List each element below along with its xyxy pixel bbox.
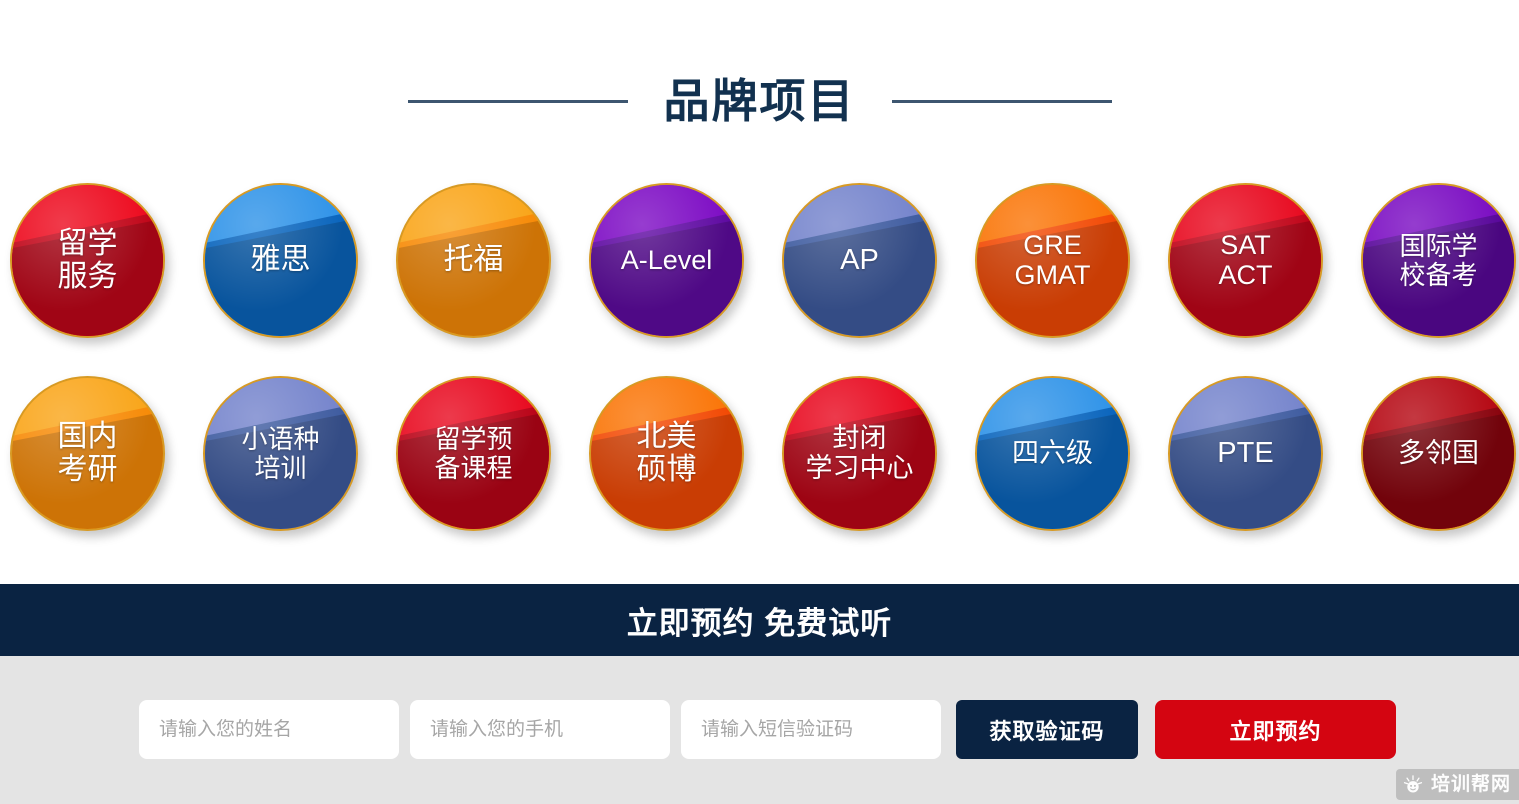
sun-face-icon xyxy=(1402,774,1424,796)
brand-programs-page: 品牌项目 留学服务雅思托福A-LevelAPGREGMATSATACT国际学校备… xyxy=(0,0,1519,804)
program-bubble-label: 托福 xyxy=(444,244,504,276)
booking-form-strip: 获取验证码 立即预约 培训帮网 xyxy=(0,656,1519,804)
page-title: 品牌项目 xyxy=(664,78,856,124)
program-bubble-label: 北美硕博 xyxy=(637,421,697,486)
label-line: 服务 xyxy=(58,261,118,293)
label-line: 封闭 xyxy=(806,424,914,453)
cta-banner: 立即预约 免费试听 xyxy=(0,584,1519,656)
section-heading: 品牌项目 xyxy=(0,62,1519,140)
program-row-1: 留学服务雅思托福A-LevelAPGREGMATSATACT国际学校备考 xyxy=(10,183,1510,338)
program-bubble[interactable]: 封闭学习中心 xyxy=(782,376,937,531)
sms-code-input[interactable] xyxy=(681,700,941,759)
site-watermark: 培训帮网 xyxy=(1396,769,1519,800)
label-line: ACT xyxy=(1219,261,1273,290)
program-bubble[interactable]: 国内考研 xyxy=(10,376,165,531)
label-line: 小语种 xyxy=(241,425,319,453)
program-bubble-label: AP xyxy=(840,245,879,276)
program-bubble-label: 留学服务 xyxy=(58,228,118,293)
name-input[interactable] xyxy=(139,700,399,759)
program-bubble-grid: 留学服务雅思托福A-LevelAPGREGMATSATACT国际学校备考 国内考… xyxy=(10,183,1510,531)
label-line: 硕博 xyxy=(637,454,697,486)
program-bubble[interactable]: 四六级 xyxy=(975,376,1130,531)
program-row-2: 国内考研小语种培训留学预备课程北美硕博封闭学习中心四六级PTE多邻国 xyxy=(10,376,1510,531)
label-line: 考研 xyxy=(58,454,118,486)
label-line: 留学 xyxy=(58,228,118,260)
label-line: GMAT xyxy=(1015,261,1091,290)
program-bubble-label: PTE xyxy=(1217,438,1273,469)
program-bubble[interactable]: 留学服务 xyxy=(10,183,165,338)
label-line: 留学预 xyxy=(434,425,512,453)
program-bubble-label: 封闭学习中心 xyxy=(806,424,914,482)
booking-form: 获取验证码 立即预约 xyxy=(139,700,1396,759)
label-line: 备课程 xyxy=(434,454,512,482)
program-bubble[interactable]: PTE xyxy=(1168,376,1323,531)
submit-booking-button[interactable]: 立即预约 xyxy=(1155,700,1396,759)
program-bubble[interactable]: 留学预备课程 xyxy=(396,376,551,531)
program-bubble-label: 雅思 xyxy=(251,244,311,276)
get-code-button[interactable]: 获取验证码 xyxy=(956,700,1138,759)
program-bubble-label: 多邻国 xyxy=(1398,439,1479,468)
heading-rule-right xyxy=(892,100,1112,103)
phone-input[interactable] xyxy=(410,700,670,759)
watermark-text: 培训帮网 xyxy=(1431,775,1511,794)
program-bubble-label: 国内考研 xyxy=(58,421,118,486)
label-line: 国内 xyxy=(58,421,118,453)
program-bubble[interactable]: 托福 xyxy=(396,183,551,338)
program-bubble-label: SATACT xyxy=(1219,231,1273,289)
program-bubble[interactable]: 多邻国 xyxy=(1361,376,1516,531)
program-bubble-label: 四六级 xyxy=(1012,439,1093,468)
program-bubble-label: A-Level xyxy=(621,246,713,275)
label-line: GRE xyxy=(1015,231,1091,260)
program-bubble[interactable]: AP xyxy=(782,183,937,338)
program-bubble[interactable]: 雅思 xyxy=(203,183,358,338)
label-line: 国际学 xyxy=(1399,232,1477,260)
program-bubble[interactable]: 小语种培训 xyxy=(203,376,358,531)
program-bubble[interactable]: 国际学校备考 xyxy=(1361,183,1516,338)
heading-rule-left xyxy=(408,100,628,103)
label-line: 学习中心 xyxy=(806,454,914,483)
program-bubble[interactable]: 北美硕博 xyxy=(589,376,744,531)
program-bubble-label: GREGMAT xyxy=(1015,231,1091,289)
cta-banner-text: 立即预约 免费试听 xyxy=(627,598,893,643)
label-line: SAT xyxy=(1219,231,1273,260)
label-line: 培训 xyxy=(241,454,319,482)
program-bubble-label: 留学预备课程 xyxy=(434,425,512,481)
program-bubble[interactable]: GREGMAT xyxy=(975,183,1130,338)
label-line: 校备考 xyxy=(1399,261,1477,289)
label-line: 北美 xyxy=(637,421,697,453)
program-bubble-label: 小语种培训 xyxy=(241,425,319,481)
program-bubble[interactable]: A-Level xyxy=(589,183,744,338)
program-bubble-label: 国际学校备考 xyxy=(1399,232,1477,288)
program-bubble[interactable]: SATACT xyxy=(1168,183,1323,338)
